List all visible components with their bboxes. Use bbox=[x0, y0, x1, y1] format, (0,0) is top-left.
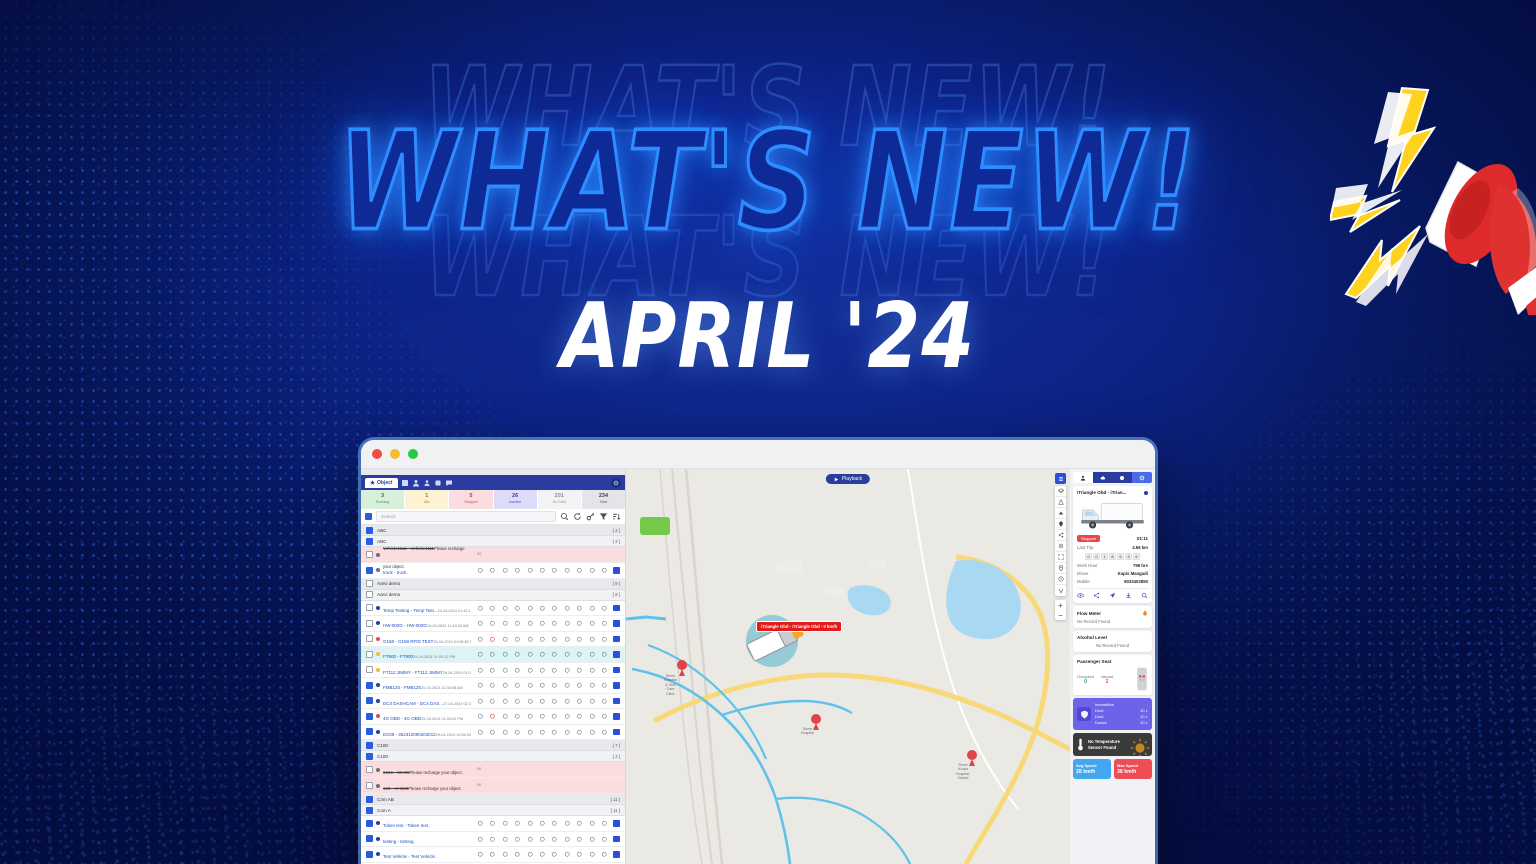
object-alert-row[interactable]: 100 - VH100Please recharge your object.0… bbox=[361, 778, 625, 794]
play-icon bbox=[834, 477, 839, 482]
lightning-bolt-icon bbox=[1330, 88, 1434, 306]
group-checkbox[interactable] bbox=[366, 742, 373, 749]
lock-icon[interactable] bbox=[589, 651, 596, 658]
marker-icon[interactable] bbox=[1055, 519, 1066, 530]
map-zoom-controls: + − bbox=[1055, 600, 1066, 620]
tool-icon[interactable] bbox=[564, 667, 571, 674]
camera-icon[interactable] bbox=[527, 836, 534, 843]
tool-icon[interactable] bbox=[564, 836, 571, 843]
lock-icon[interactable] bbox=[589, 851, 596, 858]
info-icon[interactable] bbox=[477, 682, 484, 689]
route-icon[interactable] bbox=[514, 729, 521, 736]
lock-icon[interactable] bbox=[589, 620, 596, 627]
fullscreen-icon[interactable] bbox=[1055, 552, 1066, 563]
search-input[interactable]: Search bbox=[376, 511, 556, 522]
detail-tabs bbox=[1073, 472, 1152, 483]
shield-icon bbox=[1077, 707, 1091, 721]
group-checkbox[interactable] bbox=[366, 807, 373, 814]
signal-icon[interactable] bbox=[576, 651, 583, 658]
report-icon[interactable] bbox=[613, 820, 620, 827]
photo-icon[interactable] bbox=[539, 636, 546, 643]
object-timestamp: - bbox=[414, 840, 415, 844]
settings-icon[interactable] bbox=[601, 729, 608, 736]
info-icon[interactable] bbox=[477, 713, 484, 720]
sidebar-header: Object bbox=[361, 475, 625, 490]
photo-icon[interactable] bbox=[539, 620, 546, 627]
status-tab-running[interactable]: 3 Running bbox=[361, 490, 405, 509]
driver-value: Kapis Mangadi bbox=[1118, 571, 1148, 576]
report-icon[interactable] bbox=[613, 651, 620, 658]
key-icon[interactable] bbox=[489, 698, 496, 705]
sidebar-settings-button[interactable] bbox=[611, 478, 621, 488]
vehicle-tooltip: iTriangle Obd - iTriangle Obd - 0 km/h bbox=[756, 621, 842, 632]
gauge-icon[interactable] bbox=[551, 567, 558, 574]
object-timestamp: 27-04-2024 02:20:10 PM bbox=[443, 702, 471, 706]
minimize-button[interactable] bbox=[390, 449, 400, 459]
avg-speed-value: 28 km/h bbox=[1076, 769, 1108, 775]
photo-icon[interactable] bbox=[539, 698, 546, 705]
vehicle-details-panel: iTriangle Obd - iTrian... Stopped bbox=[1070, 469, 1155, 864]
route-icon[interactable] bbox=[514, 713, 521, 720]
info-icon[interactable] bbox=[477, 605, 484, 612]
camera-icon[interactable] bbox=[527, 651, 534, 658]
settings-icon[interactable] bbox=[601, 567, 608, 574]
group-checkbox[interactable] bbox=[366, 753, 373, 760]
group-count: [ 9 ] bbox=[613, 592, 620, 597]
speed-cards: Avg Speed 28 km/h Max Speed 38 km/h bbox=[1073, 759, 1152, 779]
battery-icon[interactable] bbox=[502, 620, 509, 627]
row-checkbox[interactable] bbox=[366, 851, 373, 858]
battery-icon[interactable] bbox=[502, 836, 509, 843]
row-checkbox[interactable] bbox=[366, 766, 373, 773]
settings-icon[interactable] bbox=[601, 820, 608, 827]
tool-icon[interactable] bbox=[564, 729, 571, 736]
object-row[interactable]: Test Vehicle - Test Vehicle- bbox=[361, 847, 625, 863]
flow-meter-card: Flow Meter No Record Found bbox=[1073, 606, 1152, 628]
group-count: [ 2 ] bbox=[613, 539, 620, 544]
group-count: [ 7 ] bbox=[613, 743, 620, 748]
battery-icon[interactable] bbox=[502, 667, 509, 674]
lock-icon[interactable] bbox=[589, 682, 596, 689]
status-dot bbox=[376, 768, 380, 772]
odometer-digit: 8 bbox=[1109, 553, 1116, 560]
last-trip-value: 4.56 km bbox=[1132, 545, 1148, 550]
camera-icon[interactable] bbox=[527, 620, 534, 627]
key-icon[interactable] bbox=[489, 636, 496, 643]
row-action-icons bbox=[474, 567, 620, 574]
camera-icon[interactable] bbox=[527, 605, 534, 612]
camera-icon[interactable] bbox=[527, 667, 534, 674]
camera-icon[interactable] bbox=[527, 636, 534, 643]
route-icon[interactable] bbox=[514, 636, 521, 643]
close-button[interactable] bbox=[372, 449, 382, 459]
photo-icon[interactable] bbox=[539, 651, 546, 658]
map-list-toggle[interactable] bbox=[1055, 473, 1066, 484]
settings-icon[interactable] bbox=[601, 836, 608, 843]
lock-icon[interactable] bbox=[589, 667, 596, 674]
gauge-icon[interactable] bbox=[551, 713, 558, 720]
camera-icon[interactable] bbox=[527, 820, 534, 827]
group-checkbox[interactable] bbox=[366, 527, 373, 534]
signal-icon[interactable] bbox=[576, 567, 583, 574]
info-icon[interactable] bbox=[477, 836, 484, 843]
route-icon[interactable] bbox=[514, 682, 521, 689]
info-icon[interactable] bbox=[477, 567, 484, 574]
tab-cloud[interactable] bbox=[1093, 472, 1113, 483]
object-timestamp: 29-04-2024 01:08:50 PM bbox=[433, 640, 471, 644]
status-dot bbox=[376, 837, 380, 841]
object-name: EC08 - 352312090203012 bbox=[383, 732, 436, 737]
row-checkbox[interactable] bbox=[366, 713, 373, 720]
group-checkbox[interactable] bbox=[366, 796, 373, 803]
zoom-out-button[interactable]: − bbox=[1055, 610, 1066, 620]
row-checkbox[interactable] bbox=[366, 666, 373, 673]
key-icon[interactable] bbox=[489, 713, 496, 720]
report-icon[interactable] bbox=[613, 567, 620, 574]
alert-count: 00 bbox=[477, 767, 481, 772]
hero-section: WHAT'S NEW! WHAT'S NEW! WHAT'S NEW! APRI… bbox=[0, 58, 1536, 380]
info-icon[interactable] bbox=[477, 698, 484, 705]
key-icon[interactable] bbox=[489, 820, 496, 827]
report-icon[interactable] bbox=[613, 851, 620, 858]
camera-icon[interactable] bbox=[527, 729, 534, 736]
camera-icon[interactable] bbox=[527, 682, 534, 689]
object-timestamp: 29-04-2024 01:03:24 PM bbox=[421, 717, 463, 721]
lock-icon[interactable] bbox=[589, 713, 596, 720]
filter-icon[interactable] bbox=[599, 512, 608, 521]
battery-icon[interactable] bbox=[502, 698, 509, 705]
settings-icon[interactable] bbox=[601, 667, 608, 674]
download-icon[interactable] bbox=[1125, 592, 1132, 599]
object-row[interactable]: EC08 - 35231209020301229-04-2024 10:36:0… bbox=[361, 725, 625, 741]
user-icon[interactable] bbox=[412, 479, 420, 487]
object-row[interactable]: truck - truck- bbox=[361, 563, 625, 579]
report-icon[interactable] bbox=[613, 713, 620, 720]
battery-icon[interactable] bbox=[502, 820, 509, 827]
report-icon[interactable] bbox=[613, 698, 620, 705]
info-icon[interactable] bbox=[477, 636, 484, 643]
map-view[interactable]: Playback iTriangle Obd - iTriangle Obd -… bbox=[626, 469, 1070, 864]
gauge-icon[interactable] bbox=[551, 667, 558, 674]
row-action-icons bbox=[474, 836, 620, 843]
row-checkbox[interactable] bbox=[366, 620, 373, 627]
report-icon[interactable] bbox=[613, 836, 620, 843]
object-group-row[interactable]: Aarvi demo[ 9 ] bbox=[361, 579, 625, 590]
camera-icon[interactable] bbox=[527, 698, 534, 705]
gauge-icon[interactable] bbox=[551, 820, 558, 827]
row-checkbox[interactable] bbox=[366, 551, 373, 558]
route-icon[interactable] bbox=[514, 820, 521, 827]
gauge-icon[interactable] bbox=[551, 636, 558, 643]
settings-icon[interactable] bbox=[601, 851, 608, 858]
camera-icon[interactable] bbox=[527, 851, 534, 858]
key-icon[interactable] bbox=[489, 729, 496, 736]
status-tab-idle[interactable]: 1 Idle bbox=[405, 490, 449, 509]
tool-icon[interactable] bbox=[564, 651, 571, 658]
route-icon[interactable] bbox=[514, 698, 521, 705]
tab-settings[interactable] bbox=[1132, 472, 1152, 483]
key-icon[interactable] bbox=[489, 682, 496, 689]
search-icon[interactable] bbox=[1141, 592, 1148, 599]
tool-icon[interactable] bbox=[564, 713, 571, 720]
status-badge: Stopped bbox=[1077, 535, 1100, 542]
route-icon[interactable] bbox=[514, 836, 521, 843]
settings-icon[interactable] bbox=[601, 651, 608, 658]
poi-label: Shree Krupa Hospital, Velvad bbox=[956, 763, 970, 781]
device-icon[interactable] bbox=[434, 479, 442, 487]
photo-icon[interactable] bbox=[539, 851, 546, 858]
camera-icon[interactable] bbox=[527, 713, 534, 720]
camera-icon[interactable] bbox=[527, 567, 534, 574]
group-checkbox[interactable] bbox=[366, 538, 373, 545]
avg-speed-card: Avg Speed 28 km/h bbox=[1073, 759, 1111, 779]
key-icon[interactable] bbox=[489, 620, 496, 627]
status-tab-total[interactable]: 234 Total bbox=[582, 490, 625, 509]
gauge-icon[interactable] bbox=[551, 729, 558, 736]
photo-icon[interactable] bbox=[539, 567, 546, 574]
photo-icon[interactable] bbox=[539, 605, 546, 612]
tool-icon[interactable] bbox=[564, 682, 571, 689]
key-icon[interactable] bbox=[489, 567, 496, 574]
settings-icon[interactable] bbox=[601, 605, 608, 612]
tool-icon[interactable] bbox=[564, 820, 571, 827]
alcohol-level-message: No Record Found bbox=[1077, 643, 1148, 648]
battery-icon[interactable] bbox=[502, 636, 509, 643]
battery-icon[interactable] bbox=[502, 651, 509, 658]
object-sidebar: Object 3 Running 1 Idle bbox=[361, 469, 626, 864]
history-icon[interactable] bbox=[1055, 574, 1066, 585]
row-action-icons bbox=[474, 636, 620, 643]
signal-icon[interactable] bbox=[576, 682, 583, 689]
megaphone-icon bbox=[1426, 152, 1536, 315]
tool-icon[interactable] bbox=[564, 620, 571, 627]
tool-icon[interactable] bbox=[564, 605, 571, 612]
route-icon[interactable] bbox=[514, 567, 521, 574]
signal-icon[interactable] bbox=[576, 667, 583, 674]
navigate-icon[interactable] bbox=[1109, 592, 1116, 599]
gauge-icon[interactable] bbox=[551, 620, 558, 627]
tab-info[interactable] bbox=[1113, 472, 1133, 483]
object-group-row[interactable]: C100[ 7 ] bbox=[361, 740, 625, 751]
photo-icon[interactable] bbox=[539, 820, 546, 827]
signal-icon[interactable] bbox=[576, 698, 583, 705]
lock-icon[interactable] bbox=[589, 729, 596, 736]
tool-icon[interactable] bbox=[564, 698, 571, 705]
object-timestamp: - bbox=[435, 855, 436, 859]
key-icon[interactable] bbox=[489, 667, 496, 674]
maximize-button[interactable] bbox=[408, 449, 418, 459]
vehicle-summary-card: iTriangle Obd - iTrian... Stopped bbox=[1073, 486, 1152, 603]
alert-message: Please recharge your object. bbox=[410, 770, 463, 775]
row-checkbox[interactable] bbox=[366, 682, 373, 689]
status-label: Total bbox=[600, 500, 608, 505]
playback-button[interactable]: Playback bbox=[826, 474, 870, 484]
signal-icon[interactable] bbox=[576, 713, 583, 720]
settings-icon[interactable] bbox=[601, 636, 608, 643]
share-icon[interactable] bbox=[1093, 592, 1100, 599]
signal-icon[interactable] bbox=[576, 620, 583, 627]
group-name: Aarvi demo bbox=[377, 592, 609, 597]
report-icon[interactable] bbox=[613, 605, 620, 612]
route-icon[interactable] bbox=[514, 620, 521, 627]
grid-icon[interactable] bbox=[401, 479, 409, 487]
row-checkbox[interactable] bbox=[366, 697, 373, 704]
lock-icon[interactable] bbox=[589, 836, 596, 843]
tool-icon[interactable] bbox=[564, 851, 571, 858]
row-action-icons bbox=[474, 620, 620, 627]
zoom-in-button[interactable]: + bbox=[1055, 600, 1066, 610]
row-checkbox[interactable] bbox=[366, 782, 373, 789]
lock-icon[interactable] bbox=[589, 698, 596, 705]
immobilization-row: Doctor10 L bbox=[1095, 720, 1148, 726]
object-timestamp: 20-02-2024 11:35:58 AM bbox=[421, 686, 463, 690]
key-icon[interactable] bbox=[489, 851, 496, 858]
row-checkbox[interactable] bbox=[366, 728, 373, 735]
lock-icon[interactable] bbox=[589, 820, 596, 827]
group-checkbox[interactable] bbox=[366, 591, 373, 598]
app-screenshot-window: Object 3 Running 1 Idle bbox=[361, 440, 1155, 864]
gauge-icon[interactable] bbox=[551, 698, 558, 705]
route-icon[interactable] bbox=[514, 651, 521, 658]
gauge-icon[interactable] bbox=[551, 605, 558, 612]
vehicle-status-row: Stopped 01:11 bbox=[1077, 535, 1148, 542]
object-name: Temp Testing - Temp Test... bbox=[383, 608, 438, 613]
report-icon[interactable] bbox=[613, 682, 620, 689]
key-icon[interactable] bbox=[586, 512, 595, 521]
share-icon[interactable] bbox=[1055, 530, 1066, 541]
signal-icon[interactable] bbox=[576, 729, 583, 736]
info-icon[interactable] bbox=[477, 651, 484, 658]
object-name: HW-003G - HW-003G bbox=[383, 623, 427, 628]
eye-icon[interactable] bbox=[1077, 592, 1084, 599]
row-checkbox[interactable] bbox=[366, 635, 373, 642]
gauge-icon[interactable] bbox=[551, 651, 558, 658]
battery-icon[interactable] bbox=[502, 729, 509, 736]
battery-icon[interactable] bbox=[502, 567, 509, 574]
row-action-icons bbox=[474, 851, 620, 858]
object-name: Vehicle1111 - Vehicle1111 bbox=[383, 546, 434, 551]
measure-area-icon[interactable] bbox=[1055, 508, 1066, 519]
settings-icon[interactable] bbox=[601, 682, 608, 689]
lock-icon[interactable] bbox=[589, 567, 596, 574]
poi-icon[interactable] bbox=[1055, 563, 1066, 574]
photo-icon[interactable] bbox=[539, 667, 546, 674]
vacant-stat: Vacant 2 bbox=[1101, 674, 1113, 685]
photo-icon[interactable] bbox=[539, 682, 546, 689]
row-checkbox[interactable] bbox=[366, 567, 373, 574]
gauge-icon[interactable] bbox=[551, 851, 558, 858]
status-tab-stopped[interactable]: 5 Stopped bbox=[449, 490, 493, 509]
object-timestamp: 29-04-2024 01:09:12 PM bbox=[413, 655, 455, 659]
signal-icon[interactable] bbox=[576, 636, 583, 643]
route-icon[interactable] bbox=[514, 605, 521, 612]
sun-icon bbox=[1130, 738, 1150, 756]
chat-icon[interactable] bbox=[445, 479, 453, 487]
signal-icon[interactable] bbox=[576, 836, 583, 843]
photo-icon[interactable] bbox=[539, 713, 546, 720]
traffic-icon[interactable] bbox=[1055, 541, 1066, 552]
row-checkbox[interactable] bbox=[366, 835, 373, 842]
status-dot bbox=[1144, 491, 1148, 495]
row-checkbox[interactable] bbox=[366, 604, 373, 611]
last-trip-row: Last Trip 4.56 km bbox=[1077, 545, 1148, 550]
report-icon[interactable] bbox=[613, 636, 620, 643]
info-icon[interactable] bbox=[477, 820, 484, 827]
max-speed-card: Max Speed 38 km/h bbox=[1114, 759, 1152, 779]
object-group-row[interactable]: Com AB[ 11 ] bbox=[361, 794, 625, 805]
immobilization-rows: Immobilize-Dont10 LDont10 LDoctor10 L bbox=[1095, 702, 1148, 726]
odometer-digit: 1 bbox=[1101, 553, 1108, 560]
status-dot bbox=[376, 852, 380, 856]
report-icon[interactable] bbox=[613, 667, 620, 674]
status-tab-nodata[interactable]: 201 No Data bbox=[538, 490, 582, 509]
row-checkbox[interactable] bbox=[366, 820, 373, 827]
photo-icon[interactable] bbox=[539, 836, 546, 843]
signal-icon[interactable] bbox=[576, 605, 583, 612]
key-icon[interactable] bbox=[489, 836, 496, 843]
info-icon[interactable] bbox=[477, 620, 484, 627]
settings-icon[interactable] bbox=[601, 698, 608, 705]
route-icon[interactable] bbox=[514, 667, 521, 674]
battery-icon[interactable] bbox=[502, 605, 509, 612]
geofence-icon[interactable] bbox=[1055, 585, 1066, 596]
select-all-checkbox[interactable] bbox=[365, 513, 372, 520]
tool-icon[interactable] bbox=[564, 567, 571, 574]
settings-icon[interactable] bbox=[601, 620, 608, 627]
sort-icon[interactable] bbox=[612, 512, 621, 521]
tab-user[interactable] bbox=[1073, 472, 1093, 483]
lock-icon[interactable] bbox=[589, 605, 596, 612]
info-icon[interactable] bbox=[477, 729, 484, 736]
gauge-icon[interactable] bbox=[551, 836, 558, 843]
person-pin-icon[interactable] bbox=[423, 479, 431, 487]
photo-icon[interactable] bbox=[539, 729, 546, 736]
report-icon[interactable] bbox=[613, 729, 620, 736]
status-dot bbox=[376, 821, 380, 825]
status-tab-inactive[interactable]: 26 Inactive bbox=[494, 490, 538, 509]
signal-icon[interactable] bbox=[576, 820, 583, 827]
row-checkbox[interactable] bbox=[366, 651, 373, 658]
info-icon[interactable] bbox=[477, 667, 484, 674]
alert-count: 00 bbox=[477, 783, 481, 788]
alert-count: 00 bbox=[477, 552, 481, 557]
key-icon[interactable] bbox=[489, 605, 496, 612]
gauge-icon[interactable] bbox=[551, 682, 558, 689]
battery-icon[interactable] bbox=[502, 713, 509, 720]
user-icon bbox=[1080, 475, 1086, 481]
key-icon[interactable] bbox=[489, 651, 496, 658]
signal-icon[interactable] bbox=[576, 851, 583, 858]
ruler-icon[interactable] bbox=[1055, 497, 1066, 508]
tab-object[interactable]: Object bbox=[365, 478, 398, 488]
megaphone-illustration bbox=[1330, 80, 1536, 315]
object-list[interactable]: ABC[ 2 ]ABC[ 2 ]Vehicle1111 - Vehicle111… bbox=[361, 525, 625, 864]
search-icon[interactable] bbox=[560, 512, 569, 521]
info-icon[interactable] bbox=[477, 851, 484, 858]
settings-icon[interactable] bbox=[601, 713, 608, 720]
lock-icon[interactable] bbox=[589, 636, 596, 643]
layers-icon[interactable] bbox=[1055, 486, 1066, 497]
report-icon[interactable] bbox=[613, 620, 620, 627]
battery-icon[interactable] bbox=[502, 851, 509, 858]
tool-icon[interactable] bbox=[564, 636, 571, 643]
status-dot bbox=[376, 668, 380, 672]
object-group-row[interactable]: ABC[ 2 ] bbox=[361, 525, 625, 536]
route-icon[interactable] bbox=[514, 851, 521, 858]
group-checkbox[interactable] bbox=[366, 580, 373, 587]
refresh-icon[interactable] bbox=[573, 512, 582, 521]
battery-icon[interactable] bbox=[502, 682, 509, 689]
